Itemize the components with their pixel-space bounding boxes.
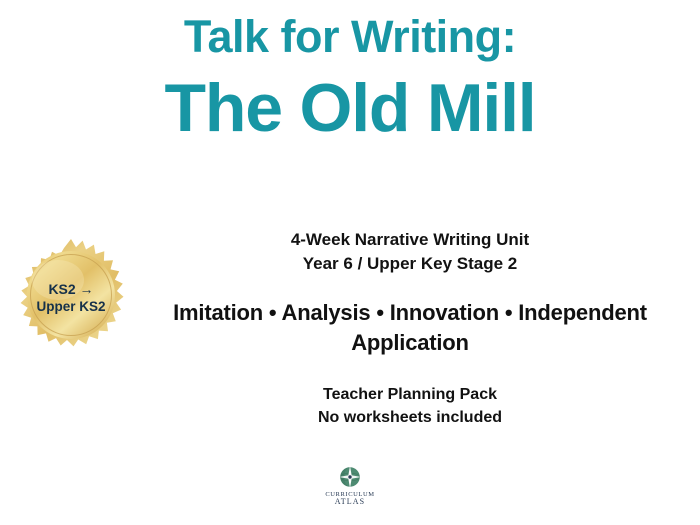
title-line-secondary: The Old Mill	[0, 71, 700, 146]
content-column: 4-Week Narrative Writing Unit Year 6 / U…	[120, 228, 700, 429]
page-title: Talk for Writing: The Old Mill	[0, 14, 700, 146]
cover-page: Talk for Writing: The Old Mill	[0, 0, 700, 525]
unit-subtitle-line-1: 4-Week Narrative Writing Unit	[120, 228, 700, 252]
starburst-seal-icon	[12, 238, 130, 358]
unit-subtitle-line-2: Year 6 / Upper Key Stage 2	[120, 252, 700, 276]
key-stage-badge: KS2 → Upper KS2	[12, 238, 130, 358]
title-line-primary: Talk for Writing:	[0, 14, 700, 61]
compass-globe-icon	[337, 464, 363, 490]
pack-info: Teacher Planning Pack No worksheets incl…	[120, 383, 700, 429]
pack-info-line-2: No worksheets included	[120, 406, 700, 429]
logo-wordmark: CURRICULUM ATLAS	[325, 491, 374, 507]
pack-info-line-1: Teacher Planning Pack	[120, 383, 700, 406]
unit-subtitle: 4-Week Narrative Writing Unit Year 6 / U…	[120, 228, 700, 276]
teaching-phases: Imitation • Analysis • Innovation • Inde…	[120, 298, 700, 357]
publisher-logo: CURRICULUM ATLAS	[0, 464, 700, 507]
logo-word-atlas: ATLAS	[325, 498, 374, 507]
